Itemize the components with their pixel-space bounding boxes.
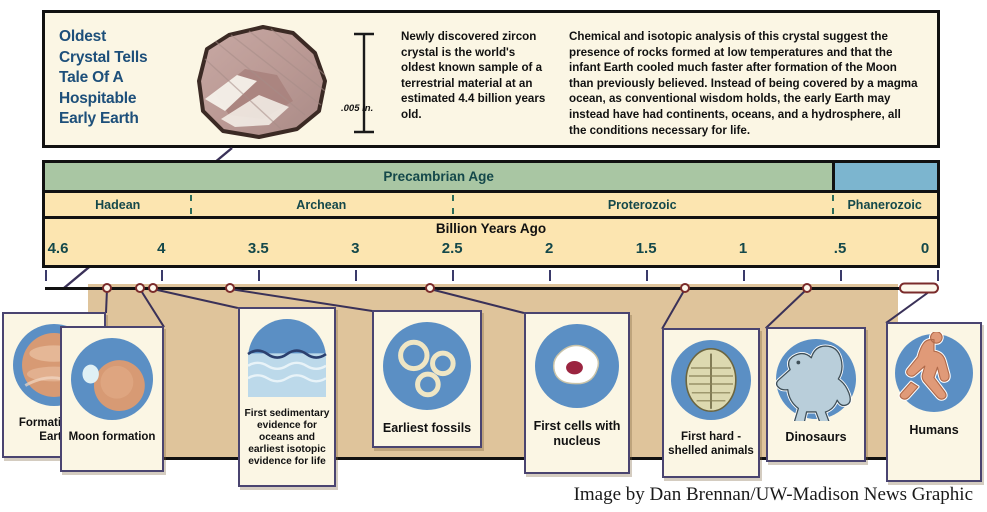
event-card-label: First cells with nucleus	[526, 415, 628, 454]
tick-mark	[161, 270, 163, 281]
event-card[interactable]: First sedimentary evidence for oceans an…	[238, 307, 336, 487]
eon-label: Phanerozoic	[847, 198, 921, 212]
event-card-label: First hard - shelled animals	[664, 427, 758, 463]
precambrian-age-band: Precambrian Age	[45, 163, 832, 190]
tick-mark	[355, 270, 357, 281]
event-marker[interactable]	[680, 283, 690, 293]
event-card[interactable]: First cells with nucleus	[524, 312, 630, 474]
tick-label-4: 4	[157, 240, 165, 257]
eon-divider	[452, 195, 454, 214]
event-marker[interactable]	[102, 283, 112, 293]
age-band-row: Precambrian Age	[45, 163, 937, 193]
header-panel: Oldest Crystal Tells Tale Of A Hospitabl…	[42, 10, 940, 148]
tick-label-0: 0	[921, 240, 929, 257]
zircon-crystal-icon	[185, 19, 345, 149]
scale-title: Billion Years Ago	[45, 221, 937, 236]
tick-mark	[937, 270, 939, 281]
phanerozoic-age-band	[832, 163, 937, 190]
event-card-label: Earliest fossils	[380, 417, 474, 441]
event-card-label: Moon formation	[66, 427, 159, 450]
event-marker[interactable]	[225, 283, 235, 293]
event-card-label: First sedimentary evidence for oceans an…	[240, 404, 334, 473]
event-card[interactable]: Dinosaurs	[766, 327, 866, 462]
tick-mark	[45, 270, 47, 281]
eon-divider	[832, 195, 834, 214]
precambrian-age-label: Precambrian Age	[383, 169, 494, 184]
event-card-label: Humans	[906, 419, 961, 443]
event-card[interactable]: Moon formation	[60, 326, 164, 472]
tick-label-3.5: 3.5	[248, 240, 269, 257]
event-card-label: Dinosaurs	[782, 426, 849, 450]
dinosaur-icon	[774, 337, 858, 426]
tick-mark	[258, 270, 260, 281]
geologic-timeline: Precambrian Age HadeanArcheanProterozoic…	[42, 160, 940, 268]
event-card[interactable]: Humans	[886, 322, 982, 482]
event-marker[interactable]	[425, 283, 435, 293]
headline: Oldest Crystal Tells Tale Of A Hospitabl…	[45, 13, 195, 145]
eon-label: Archean	[296, 198, 346, 212]
eon-proterozoic: Proterozoic	[452, 193, 832, 216]
event-card[interactable]: First hard - shelled animals	[662, 328, 760, 478]
tick-label-1: 1	[739, 240, 747, 257]
header-text-column-1: Newly discovered zircon crystal is the w…	[395, 13, 555, 145]
tick-mark	[646, 270, 648, 281]
events-connector-line	[45, 287, 919, 290]
running-human-icon	[893, 332, 975, 419]
scale-row: Billion Years Ago 4.643.532.521.51.50	[45, 219, 937, 265]
eon-label: Hadean	[95, 198, 140, 212]
crystal-figure: .005 in.	[195, 13, 395, 145]
tick-mark	[743, 270, 745, 281]
event-marker[interactable]	[148, 283, 158, 293]
tick-label-3: 3	[351, 240, 359, 257]
headline-line-2: Crystal Tells	[59, 48, 195, 69]
trilobite-icon	[669, 338, 753, 427]
moon-formation-icon	[69, 336, 155, 427]
nucleated-cell-icon	[533, 322, 621, 415]
tick-mark	[452, 270, 454, 281]
microfossil-rings-icon	[381, 320, 473, 417]
tick-mark	[840, 270, 842, 281]
image-credit-caption: Image by Dan Brennan/UW-Madison News Gra…	[0, 484, 973, 506]
eon-archean: Archean	[190, 193, 452, 216]
tick-mark	[549, 270, 551, 281]
headline-line-3: Tale Of A	[59, 68, 195, 89]
scale-bar: .005 in.	[347, 31, 381, 135]
event-marker[interactable]	[135, 283, 145, 293]
eon-phanerozoic: Phanerozoic	[832, 193, 937, 216]
ocean-waves-icon	[246, 317, 328, 404]
eon-divider	[190, 195, 192, 214]
event-marker[interactable]	[899, 283, 939, 294]
headline-line-1: Oldest	[59, 27, 195, 48]
headline-line-5: Early Earth	[59, 109, 195, 130]
tick-label-2: 2	[545, 240, 553, 257]
eon-label: Proterozoic	[608, 198, 677, 212]
headline-line-4: Hospitable	[59, 89, 195, 110]
scale-bar-label: .005 in.	[341, 103, 373, 114]
eon-hadean: Hadean	[45, 193, 190, 216]
tick-label-1.5: 1.5	[636, 240, 657, 257]
header-text-column-2: Chemical and isotopic analysis of this c…	[555, 13, 937, 145]
event-card[interactable]: Earliest fossils	[372, 310, 482, 448]
tick-label-2.5: 2.5	[442, 240, 463, 257]
event-marker[interactable]	[802, 283, 812, 293]
tick-label-4.6: 4.6	[48, 240, 69, 257]
eon-row: HadeanArcheanProterozoicPhanerozoic	[45, 193, 937, 219]
infographic-root: Oldest Crystal Tells Tale Of A Hospitabl…	[0, 0, 987, 512]
tick-label-.5: .5	[834, 240, 847, 257]
